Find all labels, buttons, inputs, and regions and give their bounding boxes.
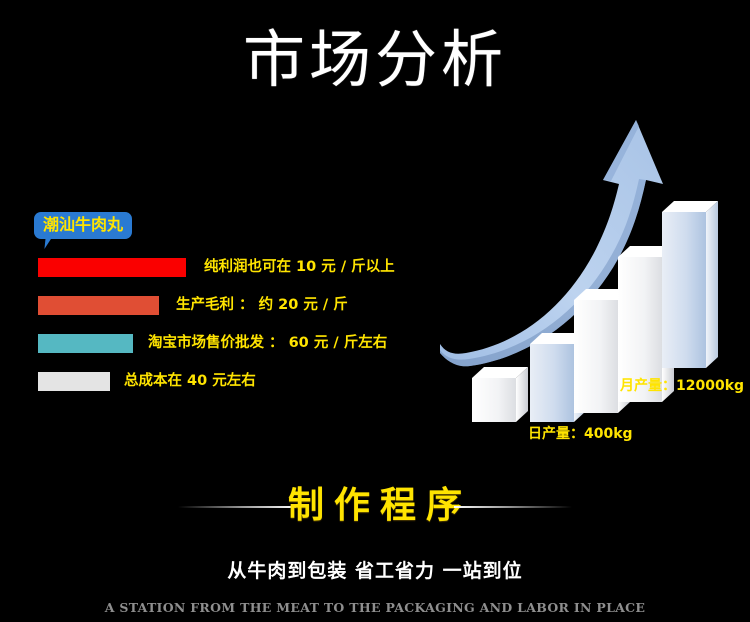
column-bar-1 [472, 367, 528, 422]
chart-row: 总成本在 40 元左右 [38, 372, 458, 410]
divider-line-right [454, 506, 572, 508]
page-title: 市场分析 [0, 22, 750, 98]
bar-gross-profit [38, 296, 159, 315]
chart-row: 淘宝市场售价批发 ： 60 元 / 斤左右 [38, 334, 458, 372]
bar-label-wholesale-price: 淘宝市场售价批发 ： 60 元 / 斤左右 [148, 332, 387, 354]
process-subtitle: 从牛肉到包装 省工省力 一站到位 [0, 556, 750, 583]
bar-total-cost [38, 372, 110, 391]
product-badge: 潮汕牛肉丸 [34, 212, 132, 239]
process-title: 制作程序 [0, 480, 750, 532]
product-badge-label: 潮汕牛肉丸 [34, 212, 132, 239]
bar-wholesale-price [38, 334, 133, 353]
column-bar-5 [662, 201, 718, 368]
monthly-output-label: 月产量：12000kg [620, 375, 744, 395]
chart-row: 生产毛利 ： 约 20 元 / 斤 [38, 296, 458, 334]
process-subtitle-english: A STATION FROM THE MEAT TO THE PACKAGING… [0, 600, 750, 615]
process-section: 制作程序 从牛肉到包装 省工省力 一站到位 A STATION FROM THE… [0, 480, 750, 615]
bar-label-net-profit: 纯利润也可在 10 元 / 斤以上 [204, 256, 395, 278]
bar-net-profit [38, 258, 186, 277]
chart-row: 纯利润也可在 10 元 / 斤以上 [38, 258, 458, 296]
bar-label-total-cost: 总成本在 40 元左右 [124, 370, 256, 392]
bar-label-gross-profit: 生产毛利 ： 约 20 元 / 斤 [176, 294, 348, 316]
price-breakdown-bar-chart: 纯利润也可在 10 元 / 斤以上 生产毛利 ： 约 20 元 / 斤 淘宝市场… [38, 258, 458, 410]
badge-pointer-tail [44, 238, 51, 249]
process-heading: 制作程序 [0, 480, 750, 538]
daily-output-label: 日产量：400kg [528, 423, 633, 443]
